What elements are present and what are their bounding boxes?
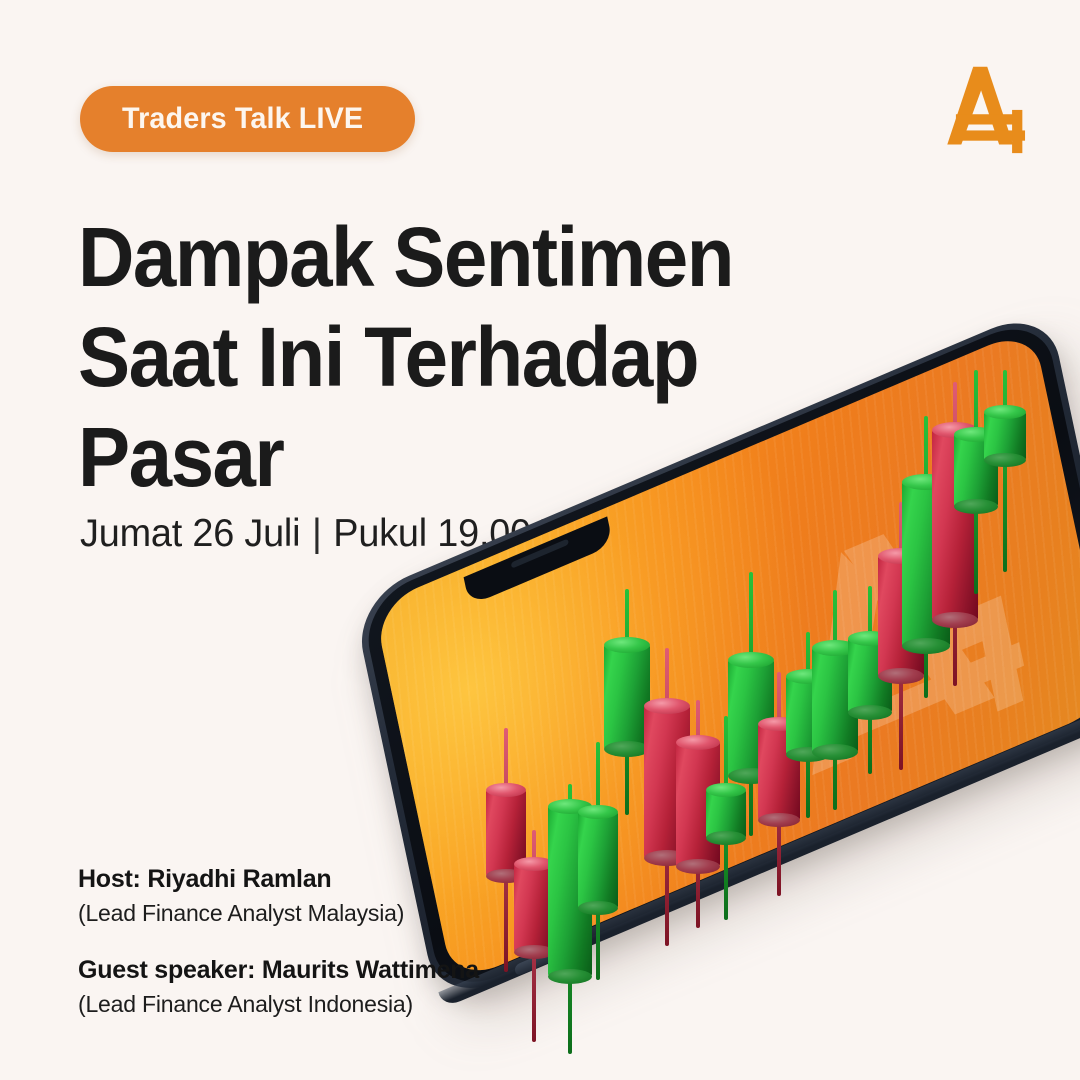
- speaker-credits: Host: Riyadhi Ramlan (Lead Finance Analy…: [78, 864, 479, 1020]
- credit-guest: Guest speaker: Maurits Wattimena (Lead F…: [78, 955, 479, 1020]
- guest-role: (Lead Finance Analyst Indonesia): [78, 989, 479, 1020]
- host-role: (Lead Finance Analyst Malaysia): [78, 898, 479, 929]
- guest-name: Guest speaker: Maurits Wattimena: [78, 955, 479, 985]
- promo-poster: Traders Talk LIVE Dampak Sentimen Saat I…: [0, 0, 1080, 1080]
- host-name: Host: Riyadhi Ramlan: [78, 864, 479, 894]
- credit-host: Host: Riyadhi Ramlan (Lead Finance Analy…: [78, 864, 479, 929]
